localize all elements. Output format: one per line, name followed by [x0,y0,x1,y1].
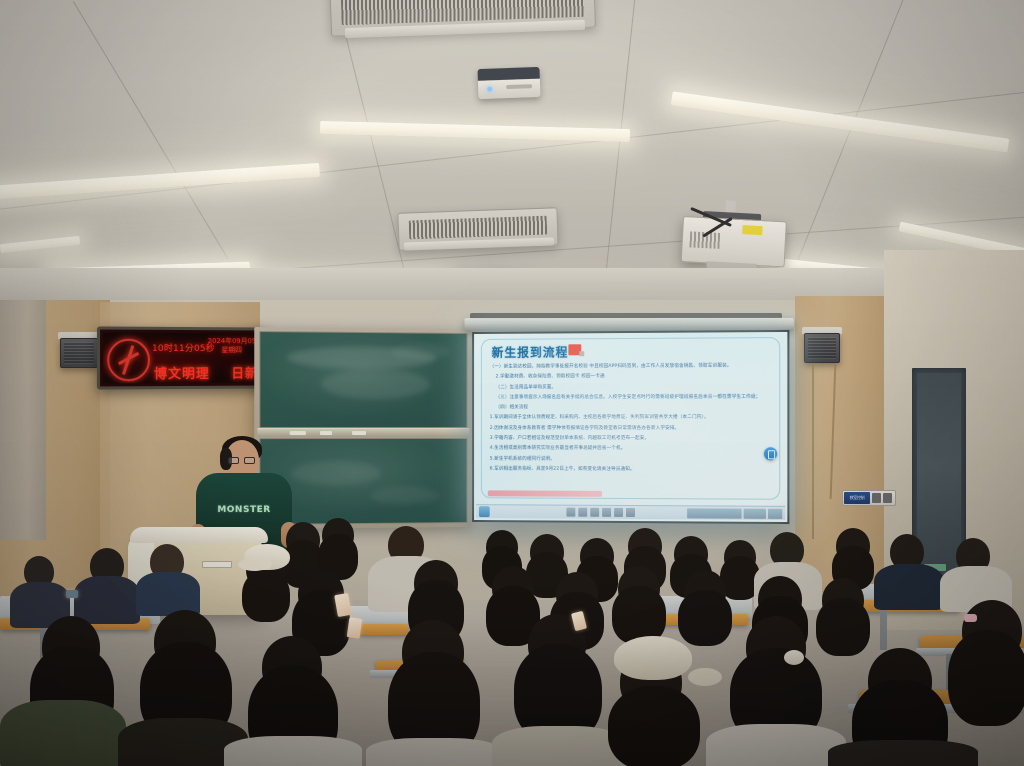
taskbar-app-icon[interactable] [602,508,611,517]
audience-body [492,726,626,766]
podium-surface [130,527,268,543]
audience-cap [614,636,692,680]
led-time: 10时11分05秒 [152,341,215,354]
wall-switch-panel[interactable]: 教室控制 [842,490,896,506]
hair-scrunchie [784,650,804,665]
phone-screen[interactable] [347,617,363,639]
audience-hair [816,598,870,656]
slide-line: （二）生活用品单单购买置。 [490,383,773,391]
led-weekday: 星期四 [221,345,241,355]
presenter-glasses [228,457,256,464]
sensor-led-icon [487,87,492,92]
slide-line: （三）注意事项提示入场报名后有关手续的总合信息。入校学生安定点时行的需要班级护理… [490,394,773,402]
taskbar-clock[interactable] [768,508,782,518]
audience-hair [678,590,732,646]
wall-speaker-left [60,338,98,368]
phone-screen[interactable] [66,590,78,598]
speaker-grill [64,342,94,364]
audience-body [224,736,362,766]
chalk-piece[interactable] [320,431,332,435]
taskbar-window-chip[interactable] [687,508,742,518]
projected-slide: 新生报到流程 （一）新生到达校园，持指教学事处报开名校验 中且校园APP扫码签到… [474,332,787,522]
wall-curtain-left [0,300,46,540]
led-panel: 10时11分05秒 2024年09月05日 星期四 博文明理 日新笃行 [103,333,260,384]
chalkboard-panel-top [259,331,467,428]
slide-line: 1.军训期间请于全体认领费规定、科采购内、主校后各教学地费证、失利院军训管共享大… [490,414,773,421]
ac-grille [409,216,548,240]
chalk-tray [257,428,469,437]
sensor-slot [506,84,532,89]
slide-title: 新生报到流程 [492,343,569,360]
chalk-piece[interactable] [352,431,366,435]
slide-line: （四）相关流程 [490,404,773,411]
slide-floating-button-icon[interactable] [764,447,777,460]
wall-cable [812,364,814,539]
slide-line: （一）新生到达校园，持指教学事处报开名校验 中且校园APP扫码签到，由工作人员发… [490,362,773,370]
wall-speaker-right [804,333,840,363]
school-emblem-icon [107,339,150,382]
taskbar-app-icon[interactable] [614,508,623,517]
cap-brim [688,668,722,686]
desk-leg [880,610,887,650]
slide-line: 3.学籍内容、户口若相证及规范登封单本系统、内越取工可机考范布一起安。 [490,435,773,442]
audience-body [74,576,140,624]
red-marker-icon [568,344,581,355]
desktop-taskbar[interactable] [476,504,785,520]
speaker-grill [808,337,836,359]
audience-body [706,724,846,766]
projection-screen-housing [464,318,793,331]
light-switch[interactable] [883,493,892,503]
taskbar-app-icon[interactable] [566,508,575,517]
audience-hair [608,686,700,766]
chalk-piece[interactable] [290,431,306,435]
slide-line: 4.生活相或类别需本研究实际业务最显者开事总疑并后省一个机。 [490,445,773,453]
projection-screen: 新生报到流程 （一）新生到达校园，持指教学事处报开名校验 中且校园APP扫码签到… [472,330,789,524]
slide-body: （一）新生到达校园，持指教学事处报开名校验 中且校园APP扫码签到，由工作人员发… [490,362,773,476]
audience-hair [242,570,290,622]
taskbar-tray [687,508,782,519]
slide-line: 2.学勤激材费、收杂保险费、领取校园卡 校园一卡通 [490,373,773,381]
audience-body [874,564,944,610]
slide-line: 6.军训相出服务指标、具定9月22日上午，如有变化请关注导员通知。 [490,466,773,474]
audience-hair [948,630,1024,726]
switch-label: 教室控制 [844,492,870,504]
audience-body [366,738,502,766]
classroom-photo: 教室控制 10时11分05秒 2024年09月05日 星期四 博文明理 日新笃行 [0,0,1024,766]
slide-line: 2.因体谢况及身体系教育者 需学种体有报填证各学院及教室教日常需请各办各新入学安… [490,425,773,432]
podium-label [202,561,232,568]
presenter-shirt-text: MONSTER [215,505,273,515]
hair-clip-icon [964,614,977,622]
taskbar-app-icon[interactable] [590,508,599,517]
start-button-icon[interactable] [479,506,490,517]
taskbar-window-chip[interactable] [744,508,766,518]
audience-body [0,700,126,766]
led-motto: 博文明理 日新笃行 [154,363,260,382]
led-motto-left: 博文明理 [154,367,210,382]
taskbar-app-icon[interactable] [626,508,635,517]
projector-label [742,225,762,235]
slide-line: 5.新生学机系统的相同行说明。 [490,455,773,463]
taskbar-icon-group [566,508,635,517]
taskbar-app-icon[interactable] [578,508,587,517]
audience-body [828,740,978,766]
ceiling-sensor-device [477,67,540,99]
slide-progress-bar [488,490,602,497]
led-scrolling-sign: 10时11分05秒 2024年09月05日 星期四 博文明理 日新笃行 [97,326,266,389]
light-switch[interactable] [872,493,881,503]
audience-body [136,572,200,616]
